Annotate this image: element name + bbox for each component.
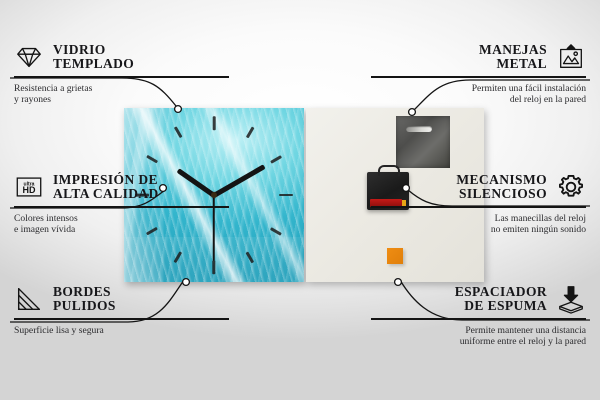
feature-bordes-pulidos[interactable]: Bordes Pulidos Superficie lisa y segura (14, 284, 229, 336)
feature-title: Mecanismo Silencioso (456, 173, 547, 202)
feature-description: Resistencia a grietas y rayones (14, 83, 229, 106)
connector-dot-manejas (409, 109, 416, 116)
feature-title-line1: Vidrio (53, 42, 106, 57)
feature-header: Vidrio Templado (14, 42, 229, 72)
feature-desc-line1: Resistencia a grietas (14, 83, 229, 95)
polished-edge-icon (14, 284, 44, 314)
feature-mecanismo-silencioso[interactable]: Mecanismo Silencioso Las manecillas del … (371, 172, 586, 236)
feature-impresion-alta-calidad[interactable]: ultra HD Impresión de Alta Calidad Color… (14, 172, 229, 236)
feature-header: ultra HD Impresión de Alta Calidad (14, 172, 229, 202)
feature-header: Manejas Metal (371, 42, 586, 72)
feature-title-line1: Bordes (53, 284, 111, 299)
feature-title-line1: Impresión de (53, 172, 158, 187)
feature-title-line2: Alta Calidad (53, 187, 159, 202)
framed-picture-icon (556, 42, 586, 72)
feature-desc-line1: Permiten una fácil instalación (371, 83, 586, 95)
product-infographic: Vidrio Templado Resistencia a grietas y … (0, 0, 600, 400)
feature-description: Permite mantener una distancia uniforme … (371, 325, 586, 348)
feature-espaciador-espuma[interactable]: Espaciador de Espuma Permite mantener un… (371, 284, 586, 348)
diamond-icon (14, 42, 44, 72)
connector-dot-vidrio (175, 106, 182, 113)
feature-header: Mecanismo Silencioso (371, 172, 586, 202)
feature-desc-line2: del reloj en la pared (371, 94, 586, 106)
feature-description: Colores intensos e imagen vívida (14, 213, 229, 236)
ultra-hd-icon: ultra HD (14, 172, 44, 202)
feature-title-line2: Metal (479, 57, 547, 72)
feature-divider (14, 76, 229, 78)
feature-desc-line1: Las manecillas del reloj (371, 213, 586, 225)
feature-title: Bordes Pulidos (53, 285, 116, 314)
ultra-hd-icon-main-text: HD (23, 185, 36, 195)
feature-title-line2: Pulidos (53, 299, 116, 314)
feature-description: Las manecillas del reloj no emiten ningú… (371, 213, 586, 236)
feature-title-line2: Templado (53, 57, 134, 72)
feature-title-line2: de Espuma (455, 299, 547, 314)
feature-title-line1: Espaciador (455, 284, 547, 299)
feature-divider (371, 76, 586, 78)
feature-divider (14, 318, 229, 320)
feature-desc-line1: Permite mantener una distancia (371, 325, 586, 337)
feature-desc-line1: Superficie lisa y segura (14, 325, 229, 337)
feature-header: Bordes Pulidos (14, 284, 229, 314)
feature-title: Impresión de Alta Calidad (53, 173, 159, 202)
feature-title: Espaciador de Espuma (455, 285, 547, 314)
feature-title-line2: Silencioso (456, 187, 547, 202)
feature-divider (14, 206, 229, 208)
feature-desc-line2: uniforme entre el reloj y la pared (371, 336, 586, 348)
gear-icon (556, 172, 586, 202)
feature-title-line1: Mecanismo (456, 172, 547, 187)
foam-spacer-icon (556, 284, 586, 314)
feature-description: Superficie lisa y segura (14, 325, 229, 337)
feature-title: Manejas Metal (479, 43, 547, 72)
feature-description: Permiten una fácil instalación del reloj… (371, 83, 586, 106)
feature-header: Espaciador de Espuma (371, 284, 586, 314)
feature-divider (371, 318, 586, 320)
feature-manejas-metal[interactable]: Manejas Metal Permiten una fácil instala… (371, 42, 586, 106)
feature-desc-line1: Colores intensos (14, 213, 229, 225)
feature-title-line1: Manejas (479, 42, 547, 57)
feature-divider (371, 206, 586, 208)
feature-desc-line2: e imagen vívida (14, 224, 229, 236)
feature-vidrio-templado[interactable]: Vidrio Templado Resistencia a grietas y … (14, 42, 229, 106)
feature-title: Vidrio Templado (53, 43, 134, 72)
feature-desc-line2: no emiten ningún sonido (371, 224, 586, 236)
feature-desc-line2: y rayones (14, 94, 229, 106)
